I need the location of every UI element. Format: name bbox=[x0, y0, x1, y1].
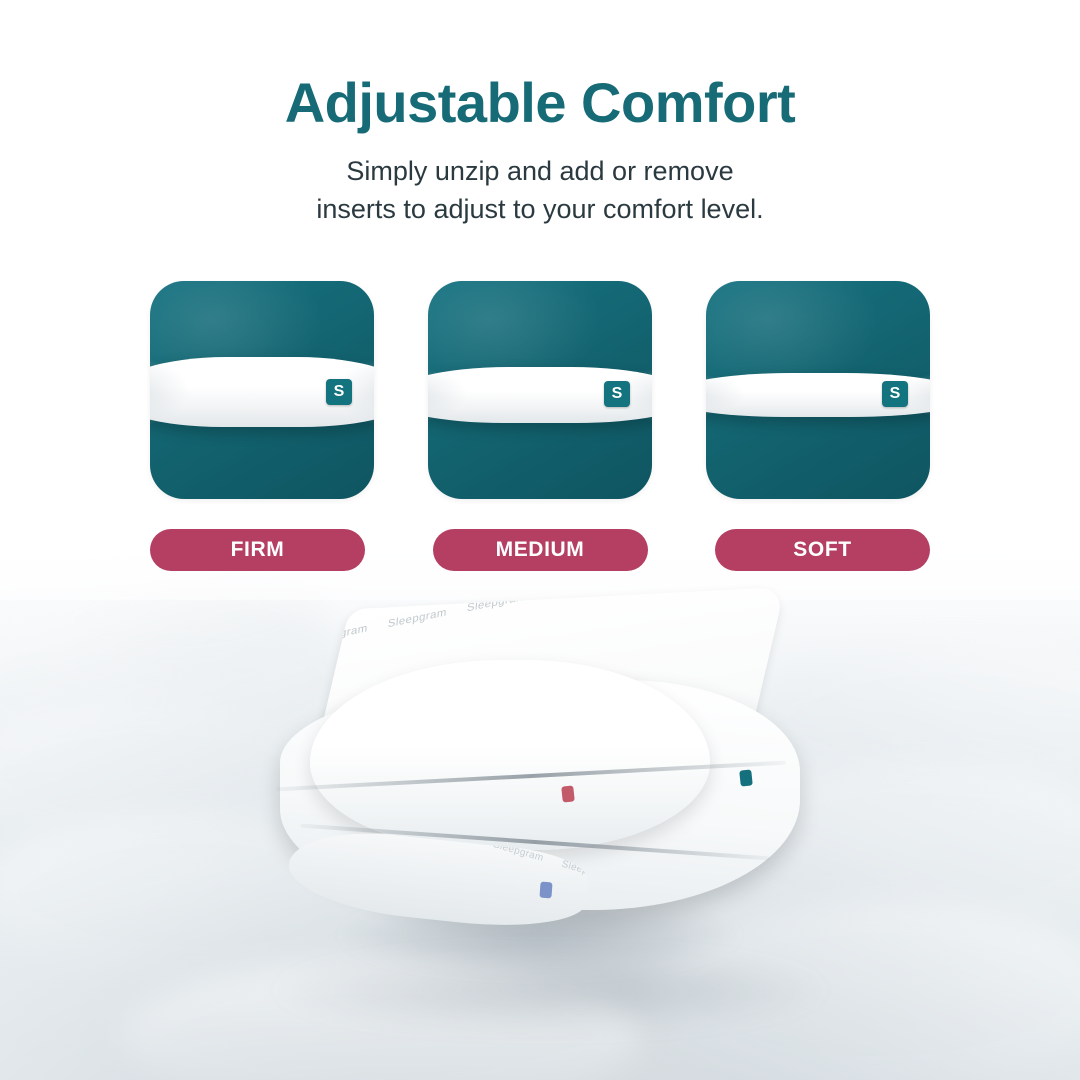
loft-option-tiles: S S S bbox=[150, 281, 930, 571]
tile-firm[interactable]: S bbox=[150, 281, 374, 499]
teal-zipper-pull[interactable] bbox=[739, 769, 753, 786]
subtitle-line-2: inserts to adjust to your comfort level. bbox=[0, 190, 1080, 228]
tile-medium[interactable]: S bbox=[428, 281, 652, 499]
tile-soft[interactable]: S bbox=[706, 281, 930, 499]
soft-pillow-illustration: S bbox=[706, 373, 930, 417]
subtitle-line-1: Simply unzip and add or remove bbox=[346, 156, 733, 186]
product-infographic: Adjustable Comfort Simply unzip and add … bbox=[0, 0, 1080, 1080]
pillow-insert bbox=[310, 660, 710, 850]
sleepgram-logo-tag: S bbox=[882, 381, 908, 407]
loft-labels: FIRM MEDIUM SOFT bbox=[150, 529, 930, 571]
blue-zipper-pull[interactable] bbox=[539, 882, 552, 899]
label-firm[interactable]: FIRM bbox=[150, 529, 365, 571]
page-subtitle: Simply unzip and add or remove inserts t… bbox=[0, 152, 1080, 229]
label-medium[interactable]: MEDIUM bbox=[433, 529, 648, 571]
sleepgram-logo-tag: S bbox=[604, 381, 630, 407]
sleepgram-logo-tag: S bbox=[326, 379, 352, 405]
hero-pillow-photo: Sleepgram Sleepgram Sleepgram Sleepgram … bbox=[240, 590, 840, 990]
medium-pillow-illustration: S bbox=[428, 367, 652, 423]
red-zipper-pull[interactable] bbox=[561, 785, 575, 802]
label-soft[interactable]: SOFT bbox=[715, 529, 930, 571]
page-title: Adjustable Comfort bbox=[0, 74, 1080, 133]
firm-pillow-illustration: S bbox=[150, 357, 374, 427]
